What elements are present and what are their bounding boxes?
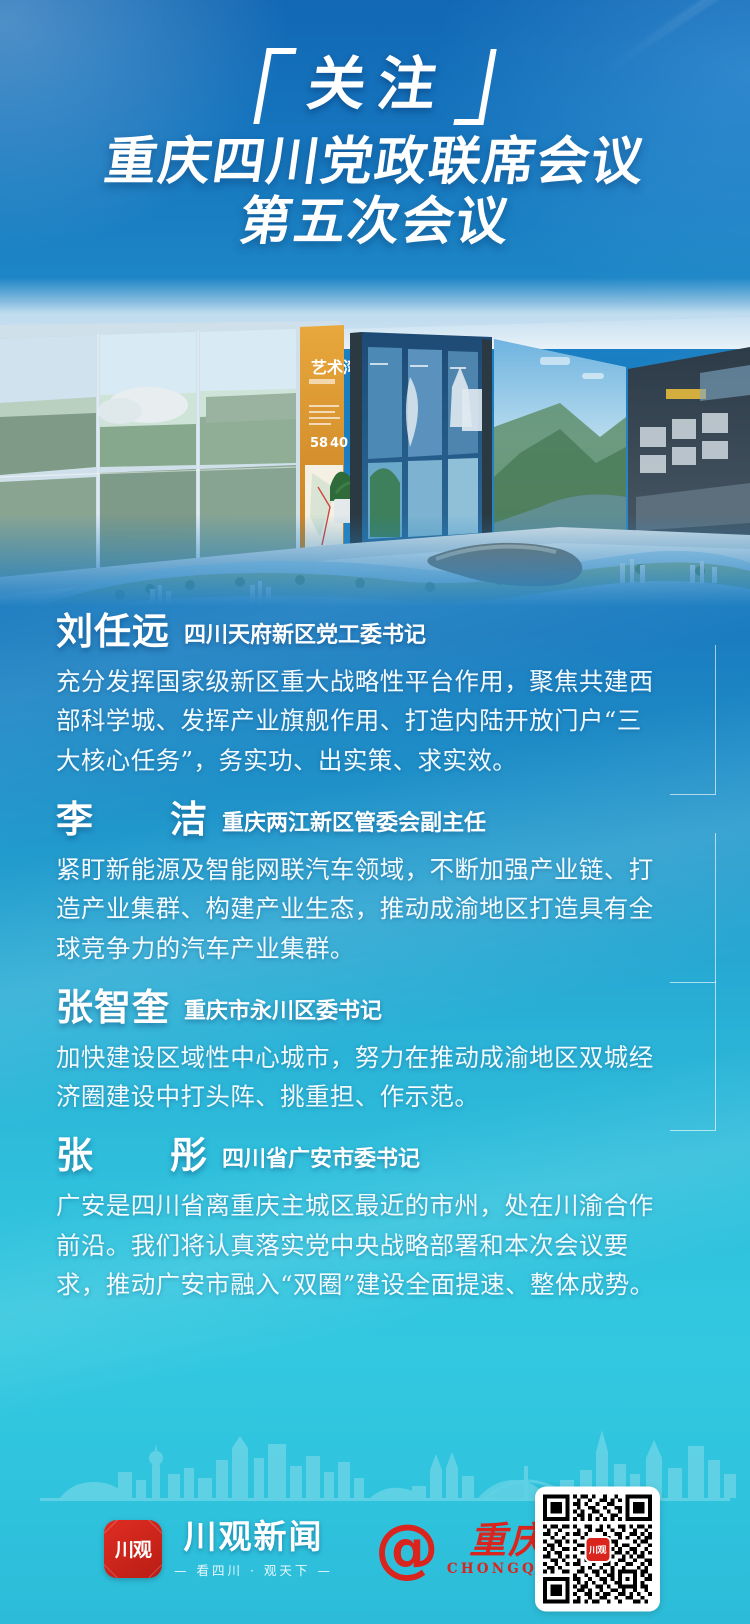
qr-matrix: 川观: [543, 1495, 652, 1604]
quote-header-2: 李 洁 重庆两江新区管委会副主任: [56, 801, 698, 838]
svg-text:58: 58: [310, 436, 328, 451]
quote-text: 加快建设区域性中心城市，努力在推动成渝地区双城经济圈建设中打头阵、挑重担、作示范…: [56, 1038, 656, 1117]
speaker-name: 张 彤: [56, 1137, 208, 1174]
quote-text: 充分发挥国家级新区重大战略性平台作用，聚焦共建西部科学城、发挥产业旗舰作用、打造…: [56, 662, 656, 781]
quote-block-1: 刘任远 四川天府新区党工委书记 充分发挥国家级新区重大战略性平台作用，聚焦共建西…: [56, 613, 698, 795]
quote-text: 紧盯新能源及智能网联汽车领域，不断加强产业链、打造产业集群、构建产业生态，推动成…: [56, 850, 656, 969]
speaker-name: 刘任远: [56, 613, 170, 650]
quote-block-2: 李 洁 重庆两江新区管委会副主任 紧盯新能源及智能网联汽车领域，不断加强产业链、…: [56, 801, 698, 983]
divider-corner-bracket: [670, 833, 716, 983]
bracket-left-icon: [253, 48, 296, 124]
poster-root: 关注 重庆四川党政联席会议 第五次会议: [0, 0, 750, 1624]
quote-header-4: 张 彤 四川省广安市委书记: [56, 1137, 698, 1174]
poster-header: 关注 重庆四川党政联席会议 第五次会议: [0, 0, 750, 253]
chuanguan-wordmark: 川观新闻 — 看四川 · 观天下 —: [174, 1519, 333, 1578]
focus-label: 关注: [297, 52, 452, 117]
at-symbol-icon: @: [375, 1523, 439, 1575]
page-title-line1: 重庆四川党政联席会议: [0, 133, 750, 192]
speaker-role: 重庆两江新区管委会副主任: [222, 813, 486, 838]
quote-header-3: 张智奎 重庆市永川区委书记: [56, 989, 698, 1026]
page-title-line2: 第五次会议: [0, 192, 750, 252]
exhibition-photo: 艺术湾 58 40: [0, 277, 750, 607]
chuanguan-slogan: — 看四川 · 观天下 —: [174, 1560, 333, 1579]
qr-code[interactable]: 川观: [535, 1487, 660, 1612]
quote-text: 广安是四川省离重庆主城区最近的市州，处在川渝合作前沿。我们将认真落实党中央战略部…: [56, 1186, 656, 1305]
svg-text:40: 40: [330, 436, 348, 451]
quote-header-1: 刘任远 四川天府新区党工委书记: [56, 613, 698, 650]
speaker-role: 四川天府新区党工委书记: [184, 625, 426, 650]
quote-block-4: 张 彤 四川省广安市委书记 广安是四川省离重庆主城区最近的市州，处在川渝合作前沿…: [56, 1137, 698, 1319]
chuanguan-name: 川观新闻: [183, 1519, 323, 1555]
focus-badge: 关注: [256, 46, 494, 127]
speaker-role: 四川省广安市委书记: [222, 1149, 420, 1174]
qr-center-logo: 川观: [584, 1536, 611, 1563]
logo-chuanguan-news[interactable]: 川观 川观新闻 — 看四川 · 观天下 —: [104, 1519, 333, 1578]
chuanguan-app-icon: 川观: [104, 1520, 162, 1578]
speaker-name: 张智奎: [56, 989, 170, 1026]
divider-corner-bracket: [670, 645, 716, 795]
quotes-section: 刘任远 四川天府新区党工委书记 充分发挥国家级新区重大战略性平台作用，聚焦共建西…: [0, 607, 750, 1320]
speaker-name: 李 洁: [56, 801, 208, 838]
chuanguan-badge-text: 川观: [115, 1535, 151, 1562]
qr-center-label: 川观: [589, 1543, 606, 1556]
bracket-right-icon: [453, 49, 496, 125]
speaker-role: 重庆市永川区委书记: [184, 1001, 382, 1026]
poster-footer: 川观 川观新闻 — 看四川 · 观天下 — @ 重庆日报 CHONGQING D…: [0, 1474, 750, 1624]
quote-block-3: 张智奎 重庆市永川区委书记 加快建设区域性中心城市，努力在推动成渝地区双城经济圈…: [56, 989, 698, 1131]
